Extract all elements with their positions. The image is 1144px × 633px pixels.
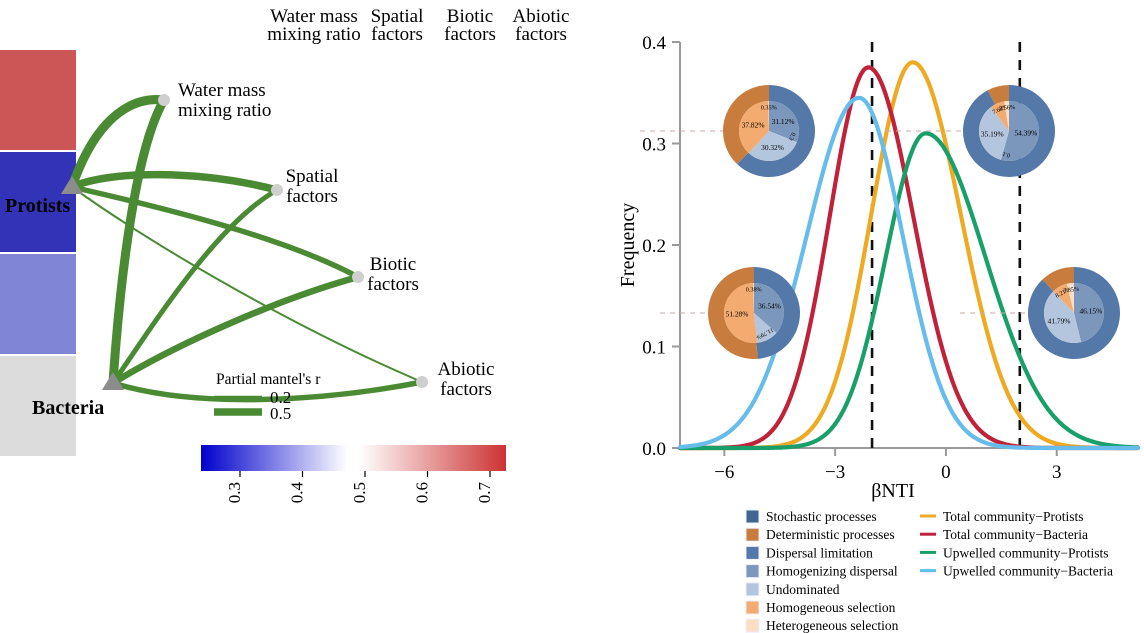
- donut-bottom-left-label-3: 0.38%: [746, 286, 762, 293]
- matrix-cell-r2-c3: [0, 254, 76, 354]
- colorbar-tick-label-0: 0.3: [225, 482, 244, 503]
- mantel-edges: [72, 100, 422, 400]
- curve-legend-label-1: Total community−Bacteria: [943, 527, 1088, 542]
- donut-bottom-right-label-1: 41.79%: [1048, 317, 1071, 326]
- colorbar: 0.30.40.50.60.7: [201, 445, 506, 503]
- edge-protists-spatial: [72, 175, 277, 190]
- y-axis-title: Frequency: [617, 203, 639, 287]
- curve-legend-label-2: Upwelled community−Protists: [943, 545, 1108, 560]
- process-legend-swatch-0: [746, 510, 759, 523]
- donut-top-left-label-2: 30.32%: [761, 143, 784, 152]
- matrix-cells: [0, 50, 76, 456]
- donut-top-right-label-0: 54.39%: [1014, 129, 1037, 138]
- process-legend-swatch-1: [746, 528, 759, 541]
- y-tick-label-1: 0.1: [642, 338, 666, 359]
- process-legend-label-6: Heterogeneous selection: [766, 618, 899, 633]
- colorbar-gradient: [201, 445, 506, 471]
- matrix-col-header-0: mixing ratio: [267, 24, 360, 45]
- node-abiotic-dot: [416, 376, 428, 388]
- matrix-cell-r0-c3: [0, 50, 76, 150]
- curve-legend-label-0: Total community−Protists: [943, 509, 1084, 524]
- donut-bottom-left: 36.54%11.79%51.28%0.38%: [708, 267, 800, 359]
- donut-top-left-label-3: 37.82%: [742, 120, 765, 129]
- panel-bnti-density: 0.00.10.20.30.4 −6−303 βNTI Frequency 31…: [600, 0, 1144, 633]
- matrix-col-header-2: factors: [444, 24, 496, 45]
- process-legend-swatch-5: [746, 601, 759, 614]
- donut-bottom-right: 46.15%41.79%8.21%3.85%: [1028, 267, 1120, 359]
- label-bacteria: Bacteria: [32, 397, 104, 419]
- mantel-legend-value-1: 0.5: [270, 404, 291, 423]
- donut-top-right-label-2: 35.19%: [981, 129, 1004, 138]
- donut-top-right-label-4: 2.56%: [999, 104, 1015, 112]
- x-axis-ticks: −6−303: [714, 448, 1061, 483]
- process-legend-swatch-4: [746, 583, 759, 596]
- curve-legend: Total community−ProtistsTotal community−…: [920, 509, 1113, 579]
- node-biotic-dot: [352, 271, 364, 283]
- mantel-legend-title: Partial mantel's r: [216, 371, 321, 388]
- process-legend-label-4: Undominated: [766, 582, 840, 597]
- x-tick-label-0: −6: [714, 462, 734, 483]
- panel-b-svg: 0.00.10.20.30.4 −6−303 βNTI Frequency 31…: [600, 0, 1144, 633]
- node-spatial-dot: [271, 184, 283, 196]
- panel-mantel-heatmap: Water massmixing ratioSpatialfactorsBiot…: [0, 0, 600, 633]
- x-tick-label-3: 3: [1052, 462, 1062, 483]
- matrix-column-headers: Water massmixing ratioSpatialfactorsBiot…: [267, 6, 569, 45]
- process-legend-swatch-6: [746, 619, 759, 632]
- process-legend-label-2: Dispersal limitation: [766, 545, 873, 560]
- process-legend-label-1: Deterministic processes: [766, 527, 895, 542]
- colorbar-tick-label-4: 0.7: [475, 482, 494, 504]
- process-legend-swatch-3: [746, 565, 759, 578]
- donut-top-left-label-4: 0.35%: [761, 104, 777, 111]
- matrix-row-label-1-b: factors: [286, 186, 338, 207]
- figure-root: Water massmixing ratioSpatialfactorsBiot…: [0, 0, 1144, 633]
- colorbar-tick-label-1: 0.4: [288, 482, 307, 504]
- donut-bottom-right-label-0: 46.15%: [1079, 306, 1102, 315]
- donut-bottom-left-label-2: 51.28%: [726, 309, 749, 318]
- matrix-row-label-3-b: factors: [440, 379, 492, 400]
- y-tick-label-4: 0.4: [642, 33, 666, 54]
- label-protists: Protists: [5, 195, 70, 217]
- x-tick-label-2: 0: [941, 462, 951, 483]
- matrix-col-header-3: factors: [515, 24, 567, 45]
- process-legend-label-0: Stochastic processes: [766, 509, 877, 524]
- colorbar-tick-label-3: 0.6: [413, 482, 432, 503]
- process-legend-label-5: Homogeneous selection: [766, 600, 896, 615]
- matrix-row-label-0: Water mass: [178, 80, 266, 101]
- colorbar-ticks: 0.30.40.50.60.7: [225, 471, 494, 503]
- matrix-row-label-2-b: factors: [367, 274, 419, 295]
- panel-a-svg: Water massmixing ratioSpatialfactorsBiot…: [0, 0, 600, 633]
- curve-legend-label-3: Upwelled community−Bacteria: [943, 564, 1113, 579]
- matrix-col-header-1: factors: [371, 24, 423, 45]
- node-watermass-dot: [158, 94, 170, 106]
- matrix-row-label-2: Biotic: [370, 254, 416, 275]
- matrix-row-label-0-b: mixing ratio: [178, 100, 271, 121]
- y-tick-label-0: 0.0: [642, 439, 666, 460]
- donut-top-left: 31.12%0.39%30.32%37.82%0.35%: [723, 85, 815, 177]
- matrix-row-label-3: Abiotic: [438, 359, 495, 380]
- x-axis-title: βNTI: [871, 480, 915, 502]
- y-tick-label-3: 0.3: [642, 135, 666, 156]
- x-tick-label-1: −3: [825, 462, 845, 483]
- matrix-row-label-1: Spatial: [286, 166, 339, 187]
- y-axis-ticks: 0.00.10.20.30.4: [642, 33, 680, 460]
- donut-top-right: 54.39%0.19%35.19%7.68%2.56%: [963, 85, 1055, 177]
- donut-top-left-label-0: 31.12%: [772, 117, 795, 126]
- matrix-row-labels: SpatialfactorsBioticfactorsAbioticfactor…: [178, 80, 495, 400]
- y-tick-label-2: 0.2: [642, 236, 666, 257]
- process-legend-label-3: Homogenizing dispersal: [766, 564, 898, 579]
- colorbar-tick-label-2: 0.5: [350, 482, 369, 503]
- edge-bacteria-watermass: [113, 100, 164, 383]
- donut-bottom-left-label-0: 36.54%: [758, 301, 781, 310]
- process-legend: Stochastic processesDeterministic proces…: [746, 509, 899, 633]
- process-legend-swatch-2: [746, 546, 759, 559]
